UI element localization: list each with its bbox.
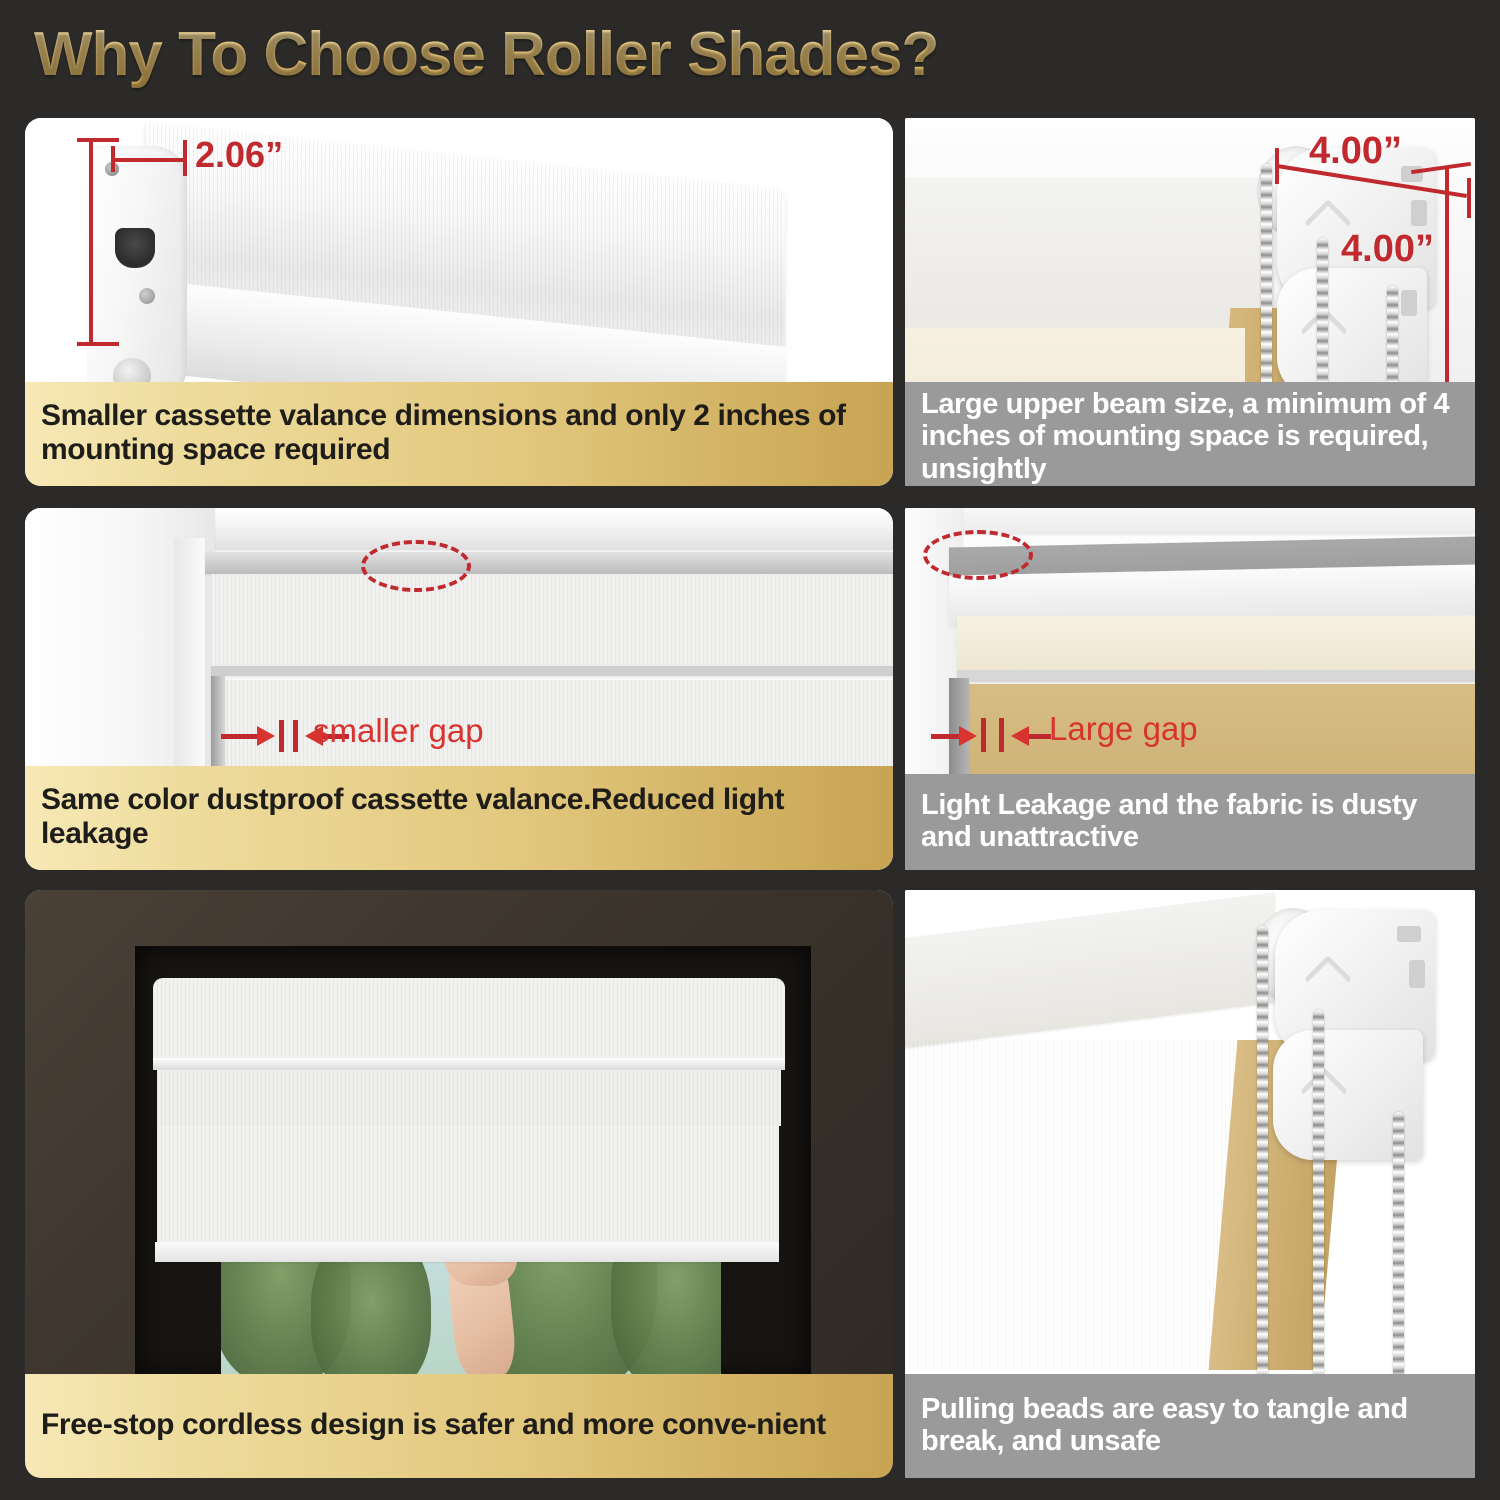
bracket-arrow-icon	[1304, 955, 1352, 1003]
page-title: Why To Choose Roller Shades?	[34, 19, 938, 90]
gap-arrow-left-shaft	[221, 734, 261, 739]
gap-arrow-right-head	[1011, 726, 1029, 746]
panel-large-beam: 4.00” 4.00” Large upper beam size, a min…	[905, 118, 1475, 486]
panel-cordless-caption: Free-stop cordless design is safer and m…	[25, 1374, 893, 1478]
bracket-notch-a	[1397, 926, 1421, 942]
cassette-top-rail	[205, 552, 893, 574]
shade-fabric-white-band	[957, 616, 1475, 674]
bead-chain-front	[1257, 926, 1268, 1378]
beam-width-tick-right	[1467, 178, 1471, 218]
panel-smaller-cassette: 2.06” 5.49” Smaller cassette valance dim…	[25, 118, 893, 486]
panel-large-beam-caption: Large upper beam size, a minimum of 4 in…	[905, 382, 1475, 486]
panel-cordless: Free-stop cordless design is safer and m…	[25, 890, 893, 1478]
width-dimension-label: 2.06”	[195, 134, 283, 176]
valance-end-cap	[87, 146, 187, 406]
cordless-valance	[153, 978, 785, 1064]
panel-smaller-cassette-caption: Smaller cassette valance dimensions and …	[25, 382, 893, 486]
gap-edge-marker-b	[293, 720, 298, 752]
bracket-notch-b	[1409, 960, 1425, 988]
width-dimension-tick-left	[111, 146, 115, 172]
shade-bottom-rail	[155, 1242, 779, 1262]
valance-bottom-edge	[211, 666, 893, 676]
shade-fabric-lower	[157, 1126, 779, 1248]
gap-edge-marker-a	[279, 720, 284, 752]
bracket-arrow-icon-2	[1300, 1067, 1348, 1115]
bracket-notch-b	[1411, 200, 1427, 226]
valance-lip	[153, 1058, 785, 1070]
beam-width-tick-left	[1275, 148, 1279, 184]
cassette-valance-front	[211, 574, 893, 670]
bead-chain-mid	[1313, 1010, 1324, 1378]
height-dimension-line-upper	[89, 138, 93, 346]
bead-chain-back	[1393, 1112, 1404, 1378]
end-cap-screw-mid	[139, 288, 155, 304]
end-cap-slot	[115, 228, 155, 268]
smaller-gap-label: smaller gap	[313, 712, 484, 750]
panel-smaller-gap-caption: Same color dustproof cassette valance.Re…	[25, 766, 893, 870]
height-dimension-tick-top	[77, 138, 119, 142]
beam-bottom-edge	[957, 670, 1475, 682]
gap-arrow-left-head	[959, 726, 977, 746]
panel-pulling-beads-caption: Pulling beads are easy to tangle and bre…	[905, 1374, 1475, 1478]
beam-width-dimension-label: 4.00”	[1309, 130, 1402, 173]
valance-second-band	[157, 1070, 781, 1126]
gap-highlight-ellipse	[361, 540, 471, 592]
panel-large-gap: Large gap Light Leakage and the fabric i…	[905, 508, 1475, 870]
width-dimension-tick-right	[183, 140, 187, 176]
gap-arrow-left-head	[257, 726, 275, 746]
panel-smaller-gap: smaller gap Same color dustproof cassett…	[25, 508, 893, 870]
large-gap-label: Large gap	[1049, 710, 1198, 748]
panel-large-gap-caption: Light Leakage and the fabric is dusty an…	[905, 774, 1475, 870]
gap-arrow-right-shaft	[1029, 734, 1051, 739]
bracket-notch-c	[1401, 290, 1417, 316]
mounting-bracket-bottom	[1277, 268, 1427, 398]
gap-edge-marker-a	[981, 718, 986, 752]
gap-edge-marker-b	[999, 718, 1004, 752]
width-dimension-line	[113, 158, 185, 162]
page-header: Why To Choose Roller Shades?	[0, 0, 1500, 108]
beam-height-dimension-label: 4.00”	[1341, 228, 1434, 271]
gap-highlight-ellipse	[923, 530, 1033, 580]
panel-pulling-beads: Pulling beads are easy to tangle and bre…	[905, 890, 1475, 1478]
height-dimension-tick-bottom	[77, 342, 119, 346]
